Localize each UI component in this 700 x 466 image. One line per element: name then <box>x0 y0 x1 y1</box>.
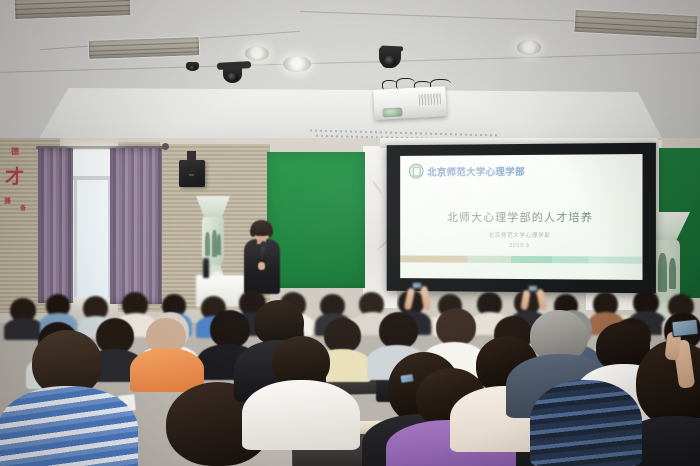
vase-mouth <box>196 196 230 219</box>
band-segment <box>552 256 589 263</box>
slide-color-band <box>400 255 642 263</box>
lecture-hall-photo: 德 才 兼 备 北京师范大学心理学部 北师大心理学 <box>0 0 700 466</box>
projector-vent <box>419 93 442 105</box>
calligraphy-char: 备 <box>20 206 26 212</box>
projection-screen[interactable]: 北京师范大学心理学部 北师大心理学部的人才培养 北京师范大学心理学部 2019.… <box>387 143 656 294</box>
ceiling-light <box>245 46 269 61</box>
band-segment <box>589 256 643 263</box>
band-segment <box>511 256 552 263</box>
audience-member-striped <box>8 330 126 466</box>
ceiling-light <box>517 40 541 55</box>
curtain-right[interactable] <box>110 148 162 304</box>
ceiling-vent <box>573 9 698 39</box>
calligraphy-char: 才 <box>5 168 24 187</box>
smartphone <box>412 282 422 289</box>
audience-member-white-shirt <box>248 336 352 440</box>
cup <box>214 272 221 280</box>
smartphone-right <box>671 319 699 338</box>
slide-title: 北师大心理学部的人才培养 <box>400 209 642 225</box>
ceiling-light <box>283 56 311 72</box>
ceiling <box>0 0 700 152</box>
ceiling-camera-right <box>379 47 401 68</box>
university-seal-icon <box>409 164 424 179</box>
calligraphy-char: 兼 <box>4 198 11 205</box>
calligraphy-artwork: 德 才 兼 备 <box>3 146 43 246</box>
band-segment <box>467 256 511 263</box>
slide-logo-text: 北京师范大学心理学部 <box>427 163 525 178</box>
ceiling-vent <box>88 36 201 60</box>
band-segment <box>400 255 467 262</box>
slide-subtitle: 北京师范大学心理学部 <box>400 231 642 240</box>
water-bottle-podium <box>203 258 209 278</box>
presenter-hair <box>250 226 256 237</box>
window-frame <box>74 180 77 298</box>
presenter-hair <box>267 226 273 237</box>
slide-date: 2019.9 <box>400 243 642 250</box>
ceiling-camera-small <box>186 62 199 71</box>
projector-lens <box>382 107 402 117</box>
ceiling-camera-left <box>223 66 242 83</box>
window <box>72 150 112 298</box>
porcelain-vase-left <box>196 196 230 284</box>
presentation-slide: 北京师范大学心理学部 北师大心理学部的人才培养 北京师范大学心理学部 2019.… <box>400 154 642 280</box>
curtain-left[interactable] <box>38 148 73 303</box>
ceiling-vent <box>14 0 132 20</box>
wall-speaker-left <box>179 160 205 187</box>
presenter <box>240 222 284 294</box>
smartphone <box>528 285 538 292</box>
audience-member-navy-striped <box>530 380 642 466</box>
audience-member-orange <box>132 318 200 388</box>
smartphone-center <box>399 373 414 384</box>
calligraphy-char: 德 <box>11 148 19 156</box>
curtain-rod-cap <box>162 143 169 150</box>
presenter-hand <box>258 262 265 270</box>
slide-logo: 北京师范大学心理学部 <box>409 163 525 179</box>
ceiling-projector <box>373 86 446 120</box>
